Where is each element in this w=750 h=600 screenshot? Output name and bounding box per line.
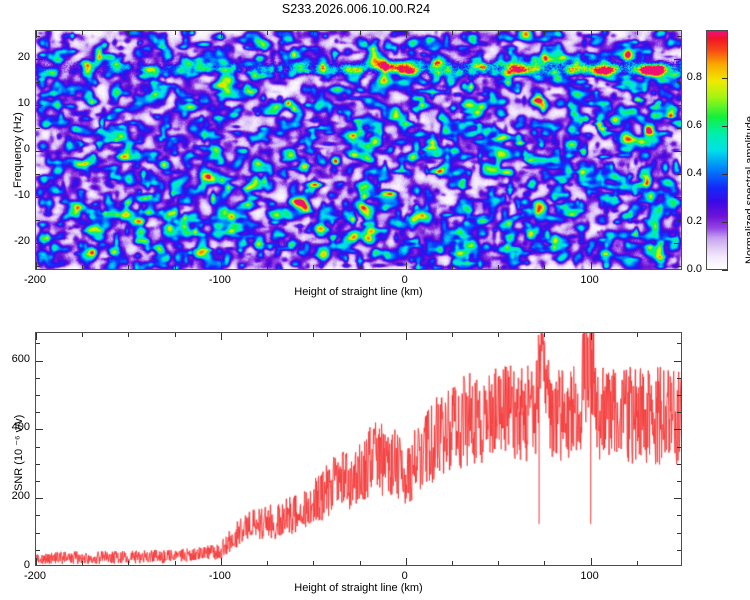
- colorbar-tick: [722, 222, 728, 223]
- snr-x-axis-title: Height of straight line (km): [35, 582, 682, 594]
- x-tick-label: 100: [565, 570, 615, 582]
- colorbar-tick: [722, 126, 728, 127]
- y-tick-label: 600: [1, 353, 30, 365]
- spectrogram-y-axis-title: Frequency (Hz): [12, 112, 24, 188]
- colorbar-tick-label: 0.6: [674, 119, 702, 131]
- snr-line-plot: [36, 333, 681, 565]
- colorbar-gradient: [707, 31, 727, 269]
- y-tick-label: -10: [1, 189, 30, 201]
- snr-panel: [35, 332, 682, 566]
- y-tick-label: 10: [1, 97, 30, 109]
- x-tick-label: 0: [380, 570, 430, 582]
- snr-y-axis-title: SNR (10 ⁻⁶ v/v): [12, 415, 25, 491]
- page-title: S233.2026.006.10.00.R24: [0, 2, 712, 16]
- colorbar: [706, 30, 728, 270]
- colorbar-tick-label: 0.8: [674, 71, 702, 83]
- spectrogram-x-axis-title: Height of straight line (km): [35, 286, 682, 298]
- x-tick-label: 100: [565, 274, 615, 286]
- x-tick-label: -200: [10, 274, 60, 286]
- x-tick-label: -100: [195, 570, 245, 582]
- spectrogram-panel: [35, 30, 682, 270]
- colorbar-tick-label: 0.4: [674, 167, 702, 179]
- x-tick-label: -100: [195, 274, 245, 286]
- colorbar-tick: [722, 270, 728, 271]
- x-tick-label: 0: [380, 274, 430, 286]
- colorbar-tick-label: 0.2: [674, 215, 702, 227]
- figure-root: S233.2026.006.10.00.R24 20100-10-20 -200…: [0, 0, 750, 600]
- x-tick-label: -200: [10, 570, 60, 582]
- spectrogram-image: [36, 31, 681, 269]
- colorbar-title: Normalized spectral amplitude: [744, 116, 750, 264]
- y-tick-label: 200: [1, 490, 30, 502]
- colorbar-tick-label: 0.0: [674, 263, 702, 275]
- colorbar-tick: [722, 78, 728, 79]
- colorbar-tick: [722, 174, 728, 175]
- y-tick-label: 20: [1, 51, 30, 63]
- y-tick-label: -20: [1, 235, 30, 247]
